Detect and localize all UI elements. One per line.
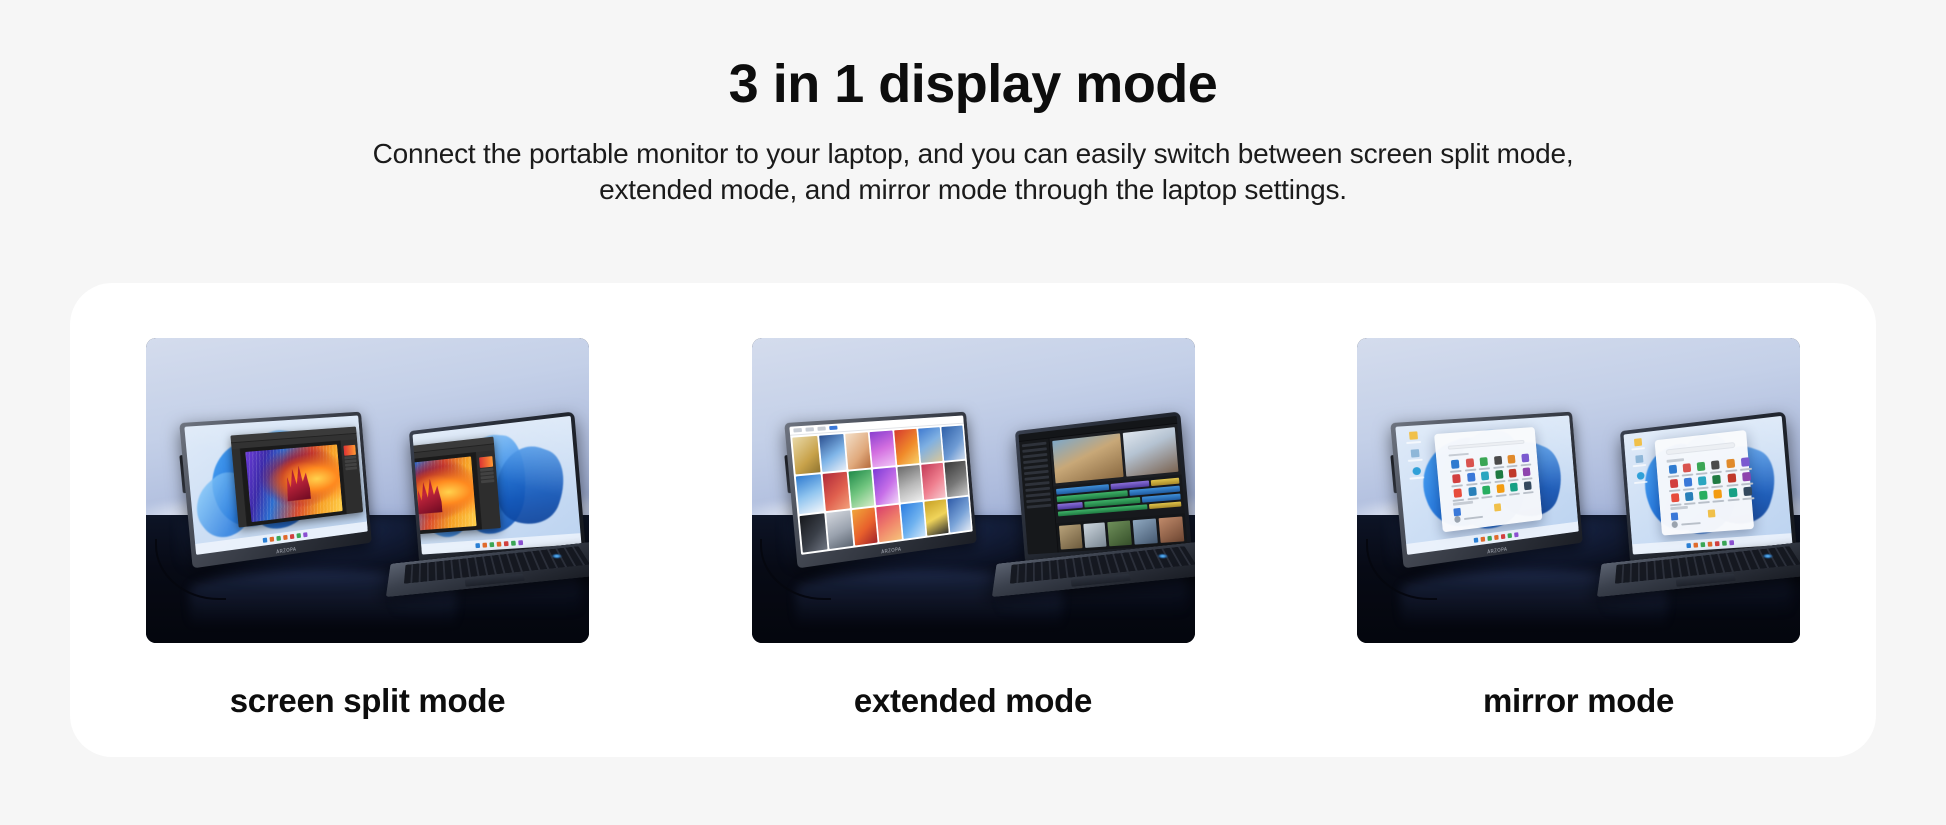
desktop-icon-folder xyxy=(1400,432,1427,446)
taskbar-icon xyxy=(1501,534,1506,539)
gallery-thumbnail xyxy=(793,436,821,475)
folder-icon xyxy=(1634,439,1642,447)
app-icon xyxy=(1697,462,1706,471)
taskbar-icon xyxy=(1729,540,1734,545)
monitor-screen xyxy=(790,416,973,556)
recommended-item-text xyxy=(1504,504,1530,507)
start-app-tile[interactable] xyxy=(1494,484,1506,497)
laptop xyxy=(1620,412,1797,562)
app-icon xyxy=(1481,472,1489,481)
taskbar-icon xyxy=(1700,542,1705,547)
app-icon xyxy=(1669,465,1677,474)
browser-icon xyxy=(1636,472,1644,480)
panel-row xyxy=(1025,487,1049,492)
app-icon xyxy=(1494,456,1502,465)
start-menu-search-input[interactable] xyxy=(1666,442,1736,455)
taskbar-icon xyxy=(1481,537,1486,542)
laptop-screen xyxy=(1624,416,1793,555)
gallery-thumbnail xyxy=(895,429,920,466)
start-app-tile[interactable] xyxy=(1463,459,1475,472)
monitor-body: ARZOPA xyxy=(179,412,371,569)
start-app-tile[interactable] xyxy=(1683,492,1695,505)
panel-row xyxy=(1023,464,1047,469)
app-icon xyxy=(1743,487,1752,497)
taskbar-icon xyxy=(270,537,275,542)
app-icon xyxy=(1480,457,1488,466)
panel-row xyxy=(1025,492,1049,497)
toolbar-chip xyxy=(818,427,827,431)
laptop-lid xyxy=(1015,412,1192,562)
display-mode-section: 3 in 1 display mode Connect the portable… xyxy=(0,0,1946,825)
toolbar-chip xyxy=(794,428,803,433)
monitor-screen xyxy=(1395,416,1578,556)
bin-thumbnail xyxy=(1158,516,1184,543)
browser-icon xyxy=(1412,468,1421,477)
app-icon xyxy=(1468,487,1477,496)
pinned-label xyxy=(1667,458,1685,463)
app-label xyxy=(1523,491,1534,494)
start-menu-search-input[interactable] xyxy=(1448,440,1525,450)
gallery-thumbnail xyxy=(849,470,875,508)
start-app-tile[interactable] xyxy=(1479,471,1491,484)
video-editor-app xyxy=(1018,416,1187,555)
taskbar-icon xyxy=(1707,542,1712,547)
app-icon xyxy=(1699,491,1708,500)
start-app-tile[interactable] xyxy=(1465,473,1477,487)
pinned-label xyxy=(1448,454,1469,458)
start-app-tile[interactable] xyxy=(1507,469,1519,482)
modes-card: ARZOPA screen split mode xyxy=(70,283,1876,757)
start-app-tile[interactable] xyxy=(1741,486,1754,500)
laptop xyxy=(409,412,586,562)
gallery-grid xyxy=(791,424,973,556)
start-app-tile[interactable] xyxy=(1519,454,1531,467)
start-app-tile[interactable] xyxy=(1712,489,1725,503)
start-app-tile[interactable] xyxy=(1493,470,1505,483)
panel-row xyxy=(1026,498,1050,503)
start-app-tile[interactable] xyxy=(1508,483,1520,496)
mode-figure-extended: ARZOPA xyxy=(752,338,1195,643)
app-icon xyxy=(1495,470,1503,479)
gallery-thumbnail xyxy=(845,433,872,471)
folder-icon xyxy=(1409,432,1418,441)
panel-row xyxy=(1024,481,1048,486)
taskbar-icon xyxy=(283,535,288,540)
app-icon xyxy=(1507,455,1515,464)
video-editor-center xyxy=(1049,424,1187,553)
subtitle-line-1: Connect the portable monitor to your lap… xyxy=(0,136,1946,172)
modes-row: ARZOPA screen split mode xyxy=(70,283,1876,757)
app-icon xyxy=(1698,476,1707,485)
start-app-tile[interactable] xyxy=(1681,463,1693,477)
mode-caption-mirror: mirror mode xyxy=(1483,681,1674,721)
recommended-item-text xyxy=(1681,514,1704,516)
panel-row xyxy=(1024,470,1048,475)
app-icon xyxy=(1465,459,1474,468)
color-swatch xyxy=(479,456,493,468)
app-label xyxy=(1698,501,1710,504)
panel-row xyxy=(1024,475,1048,480)
app-label xyxy=(1696,472,1708,475)
app-label xyxy=(1727,499,1739,502)
gallery-thumbnail xyxy=(800,514,828,554)
toolbar-chip xyxy=(806,428,815,433)
pinned-apps-grid xyxy=(1449,454,1528,498)
desktop-icon-browser xyxy=(1630,472,1652,485)
panel-row xyxy=(1022,447,1046,452)
start-app-tile[interactable] xyxy=(1696,476,1709,490)
app-icon xyxy=(1496,484,1504,493)
panel-row xyxy=(1022,453,1046,458)
portable-monitor: ARZOPA xyxy=(785,412,977,569)
icon-label xyxy=(1406,442,1421,445)
artwork-crest xyxy=(285,465,312,502)
color-swatch xyxy=(344,445,356,456)
app-label xyxy=(1668,475,1679,478)
section-header: 3 in 1 display mode Connect the portable… xyxy=(0,52,1946,208)
taskbar-icon xyxy=(475,543,480,548)
product-scene: ARZOPA xyxy=(752,338,1195,643)
timeline-clip xyxy=(1149,501,1181,509)
portable-monitor: ARZOPA xyxy=(179,412,371,569)
icon-label xyxy=(1631,448,1645,451)
start-app-tile[interactable] xyxy=(1451,489,1464,503)
gallery-thumbnail xyxy=(819,434,846,472)
taskbar-icon xyxy=(1686,543,1691,548)
mode-item-extended[interactable]: ARZOPA extended mode xyxy=(752,338,1195,757)
start-app-tile[interactable] xyxy=(1449,460,1462,474)
mode-item-screen-split[interactable]: ARZOPA screen split mode xyxy=(146,338,589,757)
photo-editor-window-right-half xyxy=(413,436,501,538)
image-gallery-app xyxy=(790,416,973,556)
app-label xyxy=(1697,487,1709,490)
app-icon xyxy=(1711,460,1720,469)
gallery-thumbnail xyxy=(901,502,926,539)
start-app-tile[interactable] xyxy=(1521,468,1533,481)
gallery-thumbnail xyxy=(826,511,853,550)
windows-start-menu[interactable] xyxy=(1434,428,1542,533)
start-app-tile[interactable] xyxy=(1725,473,1738,487)
monitor-screen xyxy=(184,416,367,556)
taskbar-icon xyxy=(496,542,501,547)
panel-row xyxy=(1023,459,1047,464)
laptop-lid xyxy=(409,412,586,562)
app-icon xyxy=(1521,454,1529,463)
portable-monitor: ARZOPA xyxy=(1390,412,1582,569)
taskbar-icon xyxy=(263,538,268,543)
icon-label xyxy=(1633,465,1647,468)
recommended-label xyxy=(1670,506,1688,511)
app-icon xyxy=(1727,473,1736,483)
desktop-icon-folder xyxy=(1627,438,1649,452)
start-app-tile[interactable] xyxy=(1740,472,1753,486)
app-label xyxy=(1683,488,1695,491)
gallery-thumbnail xyxy=(796,475,824,514)
start-app-tile[interactable] xyxy=(1724,459,1737,473)
artwork-crest xyxy=(416,478,443,514)
start-app-tile[interactable] xyxy=(1698,490,1711,504)
app-icon xyxy=(1522,468,1530,477)
gallery-thumbnail xyxy=(898,466,923,503)
mode-figure-mirror: ARZOPA xyxy=(1357,338,1800,643)
app-icon xyxy=(1714,489,1723,498)
app-icon xyxy=(1684,478,1693,487)
start-app-tile[interactable] xyxy=(1522,481,1534,494)
app-icon xyxy=(1510,483,1518,492)
timeline-clip xyxy=(1056,502,1082,510)
gallery-thumbnail xyxy=(870,431,896,468)
gallery-thumbnail xyxy=(922,464,946,501)
app-label xyxy=(1726,484,1738,487)
app-icon xyxy=(1742,472,1751,482)
gallery-thumbnail xyxy=(874,468,900,506)
app-icon xyxy=(1452,474,1461,483)
desktop-icons xyxy=(1627,438,1652,485)
taskbar-icon xyxy=(276,536,281,541)
app-label xyxy=(1682,474,1694,477)
bin-thumbnail xyxy=(1107,520,1132,546)
editor-body xyxy=(413,450,501,538)
user-name-label xyxy=(1681,522,1701,525)
start-app-tile[interactable] xyxy=(1667,465,1679,478)
panel-row xyxy=(345,467,356,471)
app-icon xyxy=(1670,479,1678,488)
taskbar-icon xyxy=(489,542,494,547)
taskbar-icon xyxy=(1508,533,1513,538)
app-label xyxy=(1481,496,1492,499)
artwork xyxy=(413,457,477,534)
start-app-tile[interactable] xyxy=(1450,474,1463,488)
start-app-tile[interactable] xyxy=(1506,455,1518,468)
gallery-thumbnail xyxy=(823,473,850,512)
page-subtitle: Connect the portable monitor to your lap… xyxy=(0,136,1946,208)
app-icon xyxy=(1482,486,1490,495)
app-icon xyxy=(1451,460,1460,469)
gallery-thumbnail xyxy=(945,462,969,498)
start-app-tile[interactable] xyxy=(1492,456,1504,469)
taskbar-icon xyxy=(518,540,523,545)
taskbar-icon xyxy=(1487,536,1492,541)
app-label xyxy=(1669,489,1680,492)
video-preview-source xyxy=(1051,433,1123,483)
bin-thumbnail xyxy=(1058,524,1082,550)
icon-label xyxy=(1408,460,1423,463)
start-app-tile[interactable] xyxy=(1739,457,1752,471)
start-app-tile[interactable] xyxy=(1727,488,1740,502)
gallery-thumbnail xyxy=(918,428,942,464)
recycle-bin-icon xyxy=(1410,450,1419,459)
start-app-tile[interactable] xyxy=(1478,457,1490,470)
start-app-tile[interactable] xyxy=(1710,460,1723,474)
app-icon xyxy=(1713,475,1722,484)
taskbar-icon xyxy=(297,533,302,538)
recycle-bin-icon xyxy=(1635,456,1643,464)
laptop-screen xyxy=(413,416,582,555)
app-icon xyxy=(1683,463,1692,472)
laptop xyxy=(1015,412,1192,562)
laptop-screen xyxy=(1018,416,1187,555)
taskbar-icon xyxy=(511,541,516,546)
start-app-tile[interactable] xyxy=(1668,479,1680,492)
taskbar-icon xyxy=(1714,541,1719,546)
editor-canvas xyxy=(413,452,482,537)
bin-thumbnail xyxy=(1132,518,1157,545)
page-title: 3 in 1 display mode xyxy=(0,52,1946,116)
start-app-tile[interactable] xyxy=(1466,487,1478,501)
gallery-thumbnail xyxy=(852,508,878,547)
taskbar-icon xyxy=(1722,541,1727,546)
windows-start-menu[interactable] xyxy=(1654,430,1754,535)
app-icon xyxy=(1509,469,1517,478)
desktop-icons xyxy=(1400,432,1431,482)
app-icon xyxy=(1671,493,1680,502)
bin-thumbnail xyxy=(1082,522,1106,548)
app-icon xyxy=(1453,489,1462,498)
gallery-thumbnail xyxy=(877,505,903,543)
gallery-thumbnail xyxy=(942,426,966,462)
panel-row xyxy=(1026,504,1050,509)
app-label xyxy=(1509,493,1520,496)
gallery-thumbnail xyxy=(925,500,949,537)
photo-editor-window-left-half xyxy=(230,427,362,529)
mode-item-mirror[interactable]: ARZOPA mirror mode xyxy=(1357,338,1800,757)
recommended-item-text xyxy=(1718,511,1742,513)
panel-row xyxy=(1021,442,1045,448)
subtitle-line-2: extended mode, and mirror mode through t… xyxy=(0,172,1946,208)
panel-row xyxy=(481,479,494,484)
desktop-icon-recycle-bin xyxy=(1628,455,1650,468)
app-icon xyxy=(1685,492,1694,501)
taskbar-icon xyxy=(1514,533,1519,538)
avatar xyxy=(1672,521,1679,528)
taskbar-icon xyxy=(290,534,295,539)
folder-icon xyxy=(1707,510,1715,518)
app-icon xyxy=(1726,459,1735,469)
app-icon xyxy=(1466,473,1475,482)
editor-canvas xyxy=(241,441,347,527)
start-app-tile[interactable] xyxy=(1711,475,1724,489)
taskbar-icon xyxy=(1693,543,1698,548)
video-editor-main xyxy=(1019,424,1187,555)
avatar xyxy=(1454,516,1461,523)
gallery-thumbnail xyxy=(948,497,972,533)
recommended-item-text xyxy=(1463,509,1490,512)
artwork xyxy=(245,445,342,523)
start-app-tile[interactable] xyxy=(1682,477,1694,490)
taskbar-icon xyxy=(303,533,308,538)
video-preview-program xyxy=(1123,427,1178,477)
recommended-label xyxy=(1453,501,1474,505)
app-label xyxy=(1713,500,1725,503)
taskbar-icon xyxy=(1474,538,1479,543)
app-label xyxy=(1712,485,1724,488)
app-label xyxy=(1725,469,1737,472)
mode-caption-screen-split: screen split mode xyxy=(230,681,506,721)
mode-figure-screen-split: ARZOPA xyxy=(146,338,589,643)
document-icon xyxy=(1671,513,1679,521)
start-app-tile[interactable] xyxy=(1695,462,1708,476)
toolbar-chip-active xyxy=(830,426,838,430)
app-icon xyxy=(1523,482,1531,491)
app-icon xyxy=(1728,488,1737,497)
taskbar-icon xyxy=(482,543,487,548)
taskbar-icon xyxy=(503,541,508,546)
product-scene: ARZOPA xyxy=(146,338,589,643)
app-icon xyxy=(1741,457,1750,467)
monitor-body: ARZOPA xyxy=(1390,412,1582,569)
monitor-body: ARZOPA xyxy=(785,412,977,569)
pinned-apps-grid xyxy=(1667,459,1740,503)
app-label xyxy=(1684,502,1696,505)
app-label xyxy=(1710,471,1722,474)
app-label xyxy=(1495,494,1506,497)
start-app-tile[interactable] xyxy=(1669,493,1681,506)
user-name-label xyxy=(1464,516,1483,520)
start-app-tile[interactable] xyxy=(1480,486,1492,499)
mode-caption-extended: extended mode xyxy=(854,681,1092,721)
desktop-icon-recycle-bin xyxy=(1401,449,1428,463)
taskbar-icon xyxy=(1494,535,1499,540)
laptop-lid xyxy=(1620,412,1797,562)
product-scene: ARZOPA xyxy=(1357,338,1800,643)
